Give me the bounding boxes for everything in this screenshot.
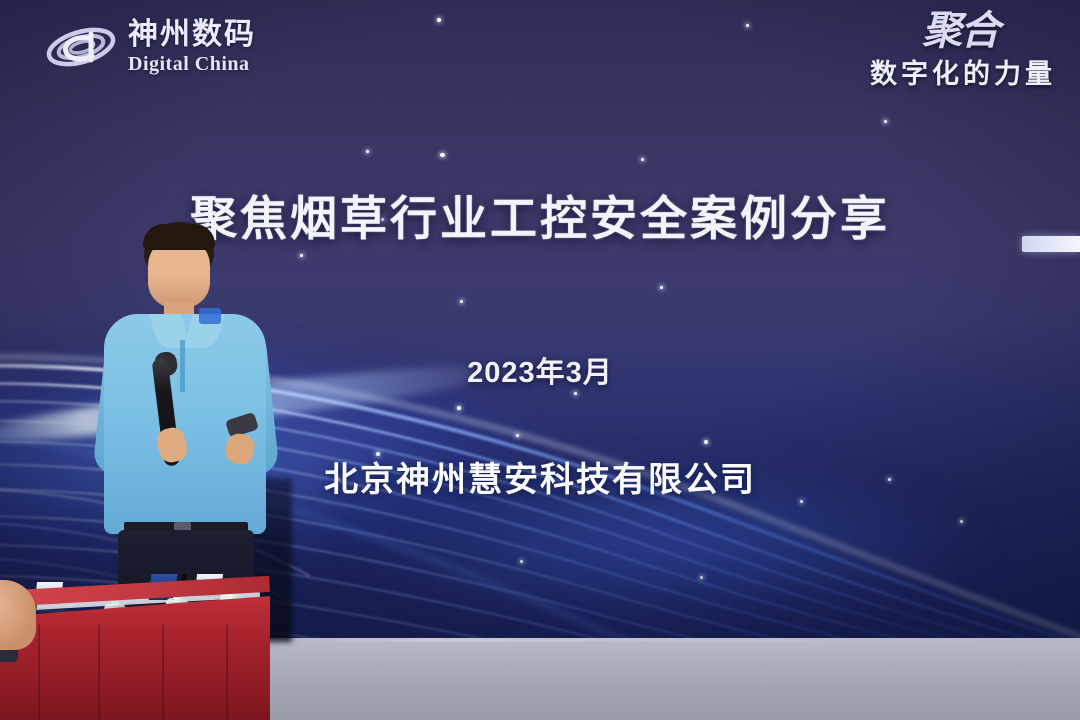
digital-china-swirl-logo-icon — [44, 16, 118, 78]
speaker-fringe — [143, 224, 215, 250]
screenshot-root: 神州数码 Digital China 聚合 数字化的力量 聚焦烟草行业工控安全案… — [0, 0, 1080, 720]
brand-name-cn: 神州数码 — [128, 20, 256, 50]
screen-edge-light-bar — [1022, 236, 1080, 252]
brand-logo-wordmark: 神州数码 Digital China — [128, 20, 256, 74]
speaker-shirt-logo — [199, 308, 221, 324]
red-table-cloth — [0, 596, 270, 720]
brand-name-en: Digital China — [128, 54, 256, 74]
cloth-fold — [38, 624, 40, 720]
brand-logo: 神州数码 Digital China — [44, 16, 256, 78]
speaker-shirt-placket — [180, 340, 185, 392]
cloth-fold — [98, 624, 100, 720]
head-table — [0, 580, 270, 720]
cloth-fold — [226, 624, 228, 720]
event-slogan: 聚合 数字化的力量 — [870, 12, 1056, 91]
slogan-calligraphy: 聚合 — [870, 12, 1056, 50]
slogan-subtitle: 数字化的力量 — [870, 52, 1056, 91]
cloth-fold — [162, 624, 164, 720]
